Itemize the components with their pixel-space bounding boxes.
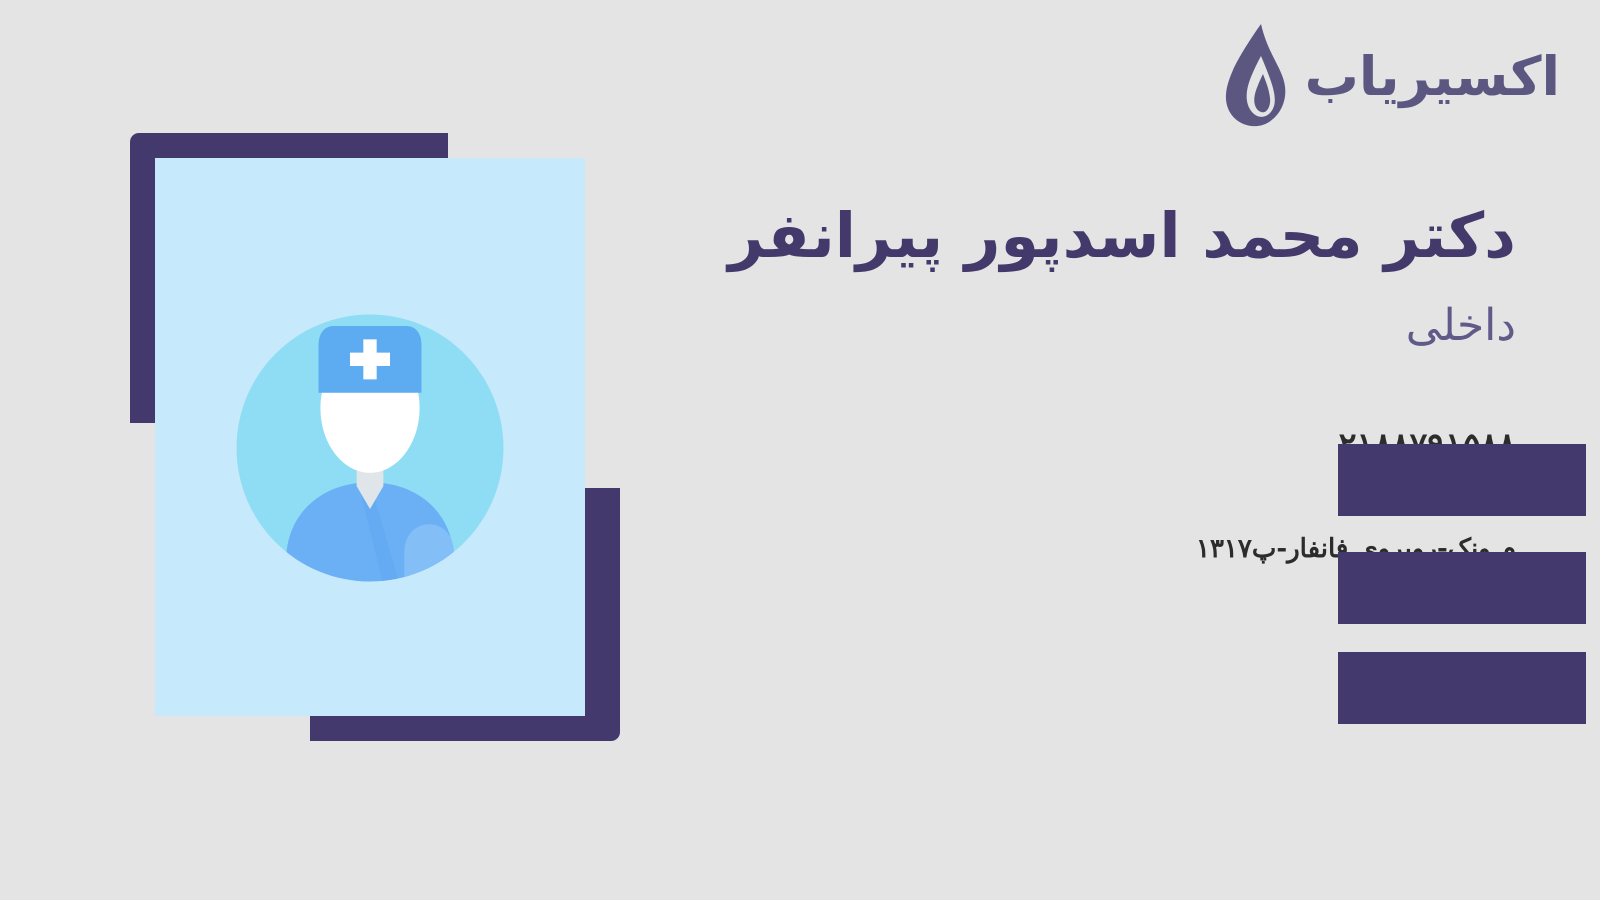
doctor-specialty: داخلی (636, 297, 1516, 354)
brand-name: اکسیریاب (1305, 50, 1560, 104)
decor-bar-2 (1338, 552, 1586, 624)
doctor-profile-card: اکسیریاب (0, 0, 1600, 900)
doctor-illustration (130, 133, 620, 741)
flame-droplet-icon (1211, 22, 1295, 132)
brand-logo[interactable]: اکسیریاب (1211, 22, 1560, 132)
doctor-name: دکتر محمد اسدپور پیرانفر (636, 196, 1516, 275)
decor-bar-1 (1338, 444, 1586, 516)
decor-bar-3 (1338, 652, 1586, 724)
photo-card (155, 158, 585, 716)
doctor-avatar-icon (227, 305, 513, 591)
